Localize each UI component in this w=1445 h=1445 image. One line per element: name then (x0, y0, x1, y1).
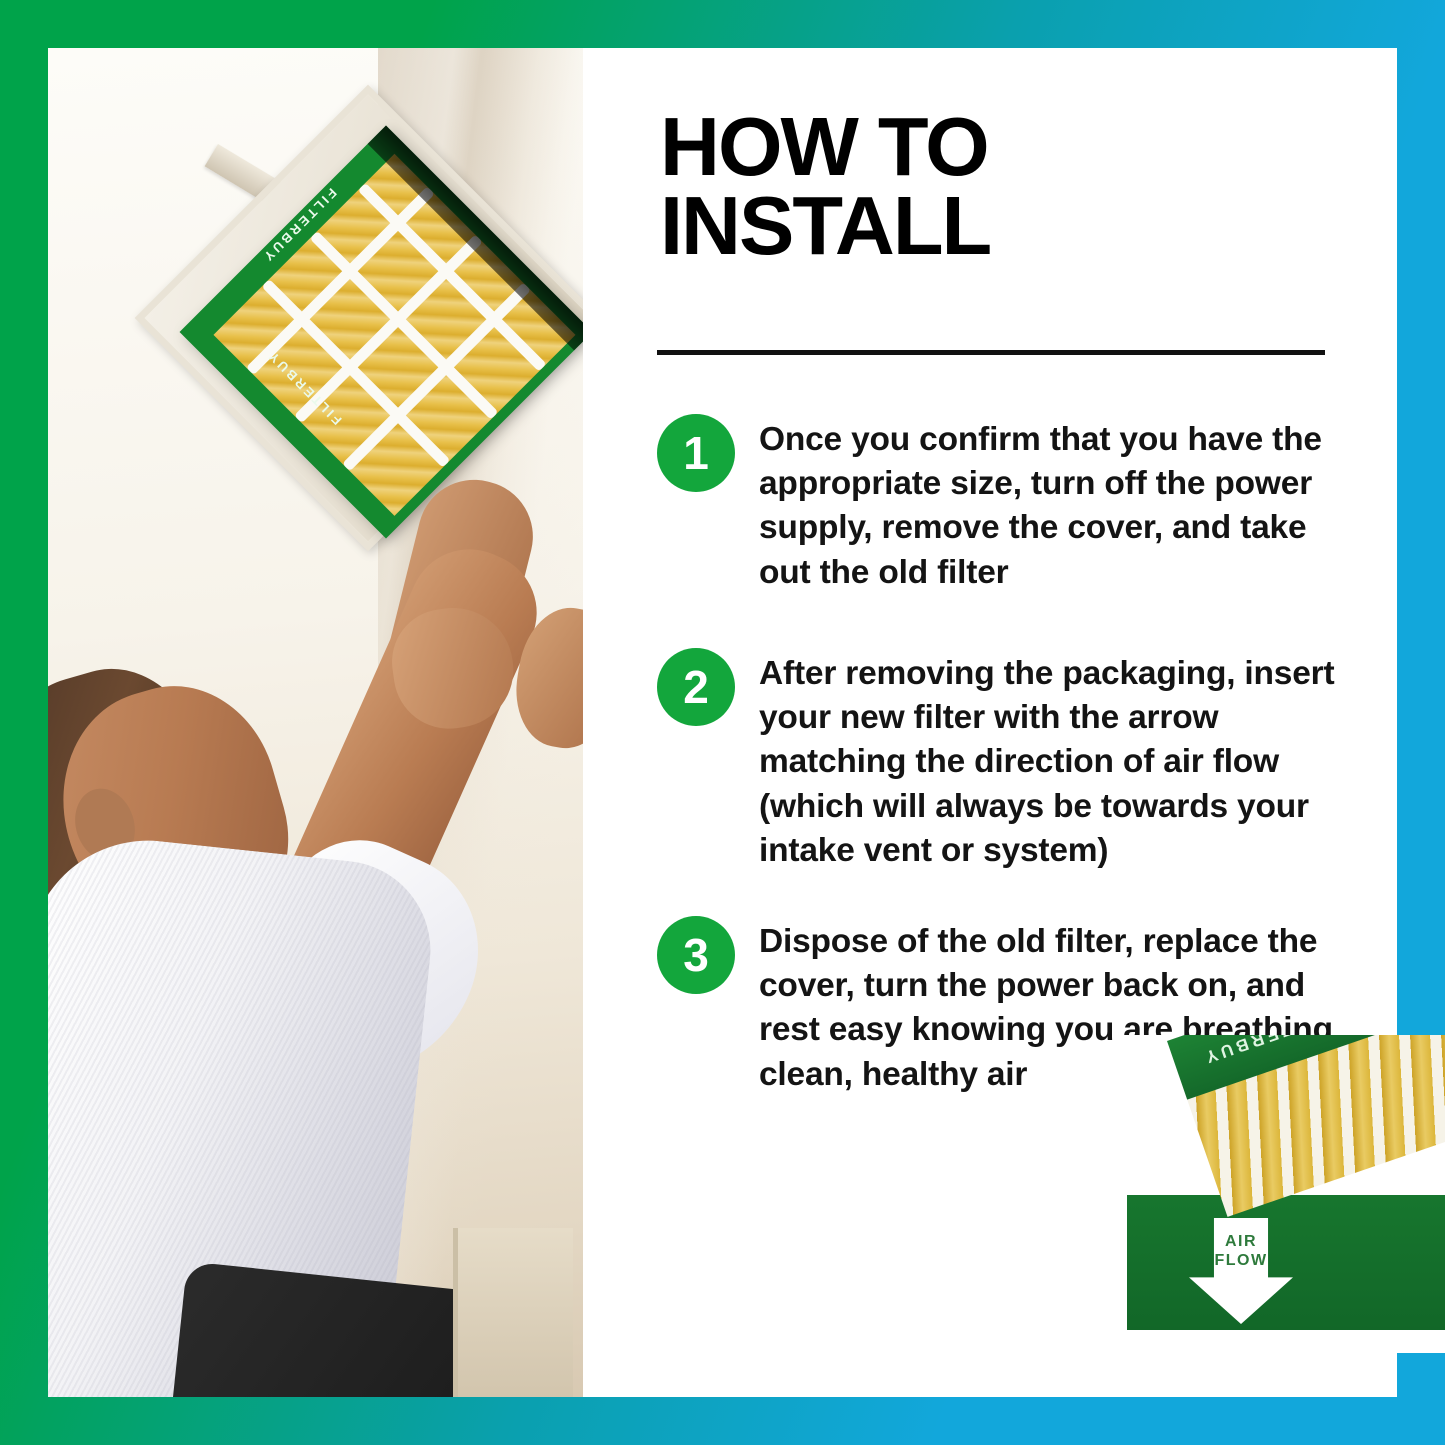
step-text: After removing the packaging, insert you… (759, 652, 1357, 873)
step-number-badge: 3 (657, 916, 735, 994)
promo-page: FILTERBUY FILTERBUY HOW TO INSTALL 1 (0, 0, 1445, 1445)
airflow-arrow: AIR FLOW (1189, 1218, 1293, 1324)
step-item-1: 1 Once you confirm that you have the app… (657, 418, 1357, 595)
doorway (453, 1228, 573, 1397)
step-number-badge: 1 (657, 414, 735, 492)
title-divider (657, 350, 1325, 355)
step-number-badge: 2 (657, 648, 735, 726)
product-photo: FILTERBUY AIR FLOW (1117, 1035, 1445, 1353)
airflow-label: AIR FLOW (1189, 1232, 1293, 1270)
airflow-line-1: AIR (1225, 1233, 1257, 1250)
filter-top-face: FILTERBUY (1167, 1035, 1445, 1211)
installation-photo: FILTERBUY FILTERBUY (48, 48, 583, 1397)
step-item-2: 2 After removing the packaging, insert y… (657, 652, 1357, 873)
title-line-2: INSTALL (660, 179, 990, 272)
airflow-line-2: FLOW (1214, 1252, 1267, 1269)
step-text: Once you confirm that you have the appro… (759, 418, 1357, 595)
page-title: HOW TO INSTALL (660, 108, 1360, 266)
